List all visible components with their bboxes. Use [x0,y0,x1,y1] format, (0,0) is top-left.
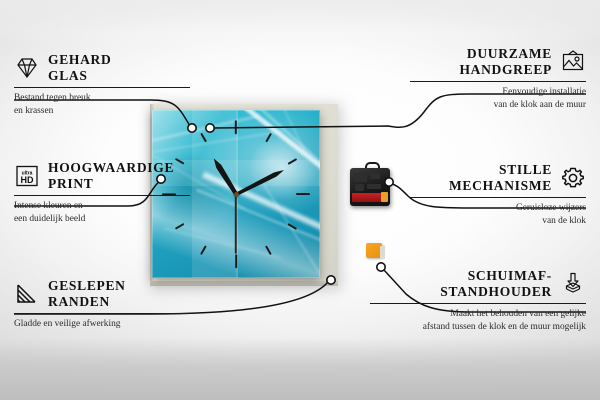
feature-title-line-1: GEHARD [48,52,111,68]
window-reflection [192,110,236,278]
feature-stille-mechanisme: STILLE MECHANISME Geruisloze wijzers van… [410,162,586,228]
bottom-gradient-band [0,338,600,400]
feature-title-line-1: STILLE [449,162,552,178]
feature-rule [14,195,190,196]
feature-rule [14,313,190,314]
feature-rule [14,87,190,88]
feature-title-line-2: STANDHOUDER [440,284,552,300]
mechanism-detail [355,184,364,191]
feature-duurzame-handgreep: DUURZAME HANDGREEP Eenvoudige installati… [410,46,586,112]
battery-positive-terminal [381,192,388,202]
mechanism-detail [354,173,367,182]
clock-tick [235,254,237,268]
feature-subtitle-line-2: afstand tussen de klok en de muur mogeli… [370,321,586,334]
beveled-edges-icon [14,282,40,306]
feature-subtitle-line-1: Eenvoudige installatie [410,86,586,99]
feature-subtitle-line-2: van de klok aan de muur [410,99,586,112]
feature-gehard-glas: GEHARD GLAS Bestand tegen breuk en krass… [14,52,190,118]
feature-title-line-2: MECHANISME [449,178,552,194]
second-hand [235,192,237,254]
feature-subtitle-line-1: Maakt het behouden van een gelijke [370,308,586,321]
feature-subtitle-line-1: Gladde en veilige afwerking [14,318,190,331]
foam-spacer-icon [560,272,586,296]
feature-rule [410,81,586,82]
feature-title-line-2: PRINT [48,176,174,192]
feature-hoogwaardige-print: ultra HD HOOGWAARDIGE PRINT Intense kleu… [14,160,190,226]
feature-geslepen-randen: GESLEPEN RANDEN Gladde en veilige afwerk… [14,278,190,331]
feature-subtitle-line-2: en krassen [14,105,190,118]
feature-subtitle-line-2: van de klok [410,215,586,228]
feature-title-line-2: GLAS [48,68,111,84]
ultra-hd-icon: ultra HD [14,164,40,188]
ultra-hd-icon-bottom-text: HD [21,175,34,185]
feature-title-line-1: SCHUIMAF- [440,268,552,284]
product-infographic: GEHARD GLAS Bestand tegen breuk en krass… [0,0,600,400]
feature-subtitle-line-2: een duidelijk beeld [14,213,190,226]
feature-title-line-1: GESLEPEN [48,278,126,294]
clock-center-pin [234,192,239,197]
foam-spacer-pad-side [380,246,385,259]
feature-rule [370,303,586,304]
gear-icon [560,166,586,190]
picture-frame-hanger-icon [560,50,586,74]
feature-title-line-1: DUURZAME [459,46,552,62]
feature-title-line-2: HANDGREEP [459,62,552,78]
feature-subtitle-line-1: Intense kleuren en [14,200,190,213]
mechanism-detail [370,173,380,179]
top-gradient-wash [0,0,600,46]
feature-title-line-1: HOOGWAARDIGE [48,160,174,176]
feature-title-line-2: RANDEN [48,294,126,310]
mechanism-detail [367,184,381,189]
feature-rule [410,197,586,198]
feature-subtitle-line-1: Bestand tegen breuk [14,92,190,105]
feature-subtitle-line-1: Geruisloze wijzers [410,202,586,215]
diamond-icon [14,56,40,80]
feature-schuimafstandhouder: SCHUIMAF- STANDHOUDER Maakt het behouden… [370,268,586,334]
